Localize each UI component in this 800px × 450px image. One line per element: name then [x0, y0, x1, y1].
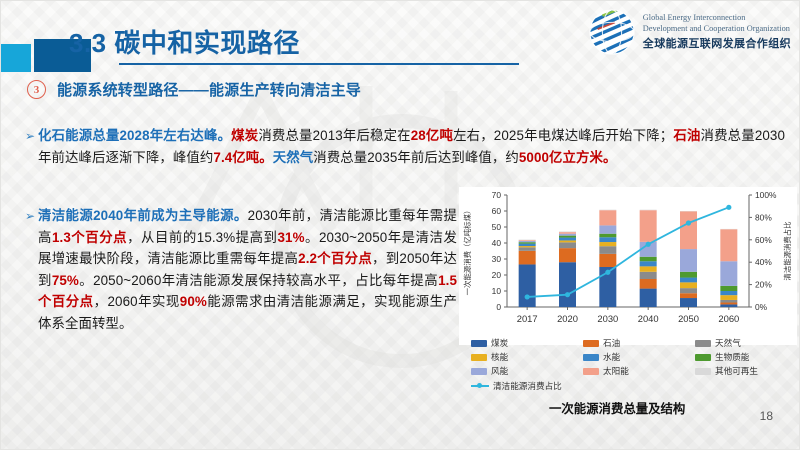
- legend-item: 生物质能: [695, 351, 791, 363]
- bar-segment: [599, 237, 616, 242]
- x-axis-tick: 2060: [718, 313, 739, 324]
- header-underline: [119, 63, 519, 65]
- line-data-point: [525, 294, 530, 299]
- legend-swatch: [583, 340, 599, 347]
- text-run: 天然气: [273, 150, 313, 165]
- text-run: 75%: [52, 273, 79, 288]
- bar-segment: [519, 244, 536, 246]
- bullet-text-1: 化石能源总量2028年左右达峰。煤炭消费总量2013年后稳定在28亿吨左右，20…: [38, 125, 785, 168]
- bar-segment: [680, 298, 697, 307]
- bar-segment: [559, 242, 576, 248]
- bullet-item-1: ➢ 化石能源总量2028年左右达峰。煤炭消费总量2013年后稳定在28亿吨左右，…: [25, 125, 785, 168]
- legend-swatch: [695, 354, 711, 361]
- line-data-point: [605, 270, 610, 275]
- y-axis-tick: 10: [492, 286, 502, 296]
- bar-segment: [640, 272, 657, 279]
- bar-segment: [559, 248, 576, 262]
- text-run: 煤炭: [231, 128, 258, 143]
- bar-segment: [640, 257, 657, 261]
- bar-segment: [720, 286, 737, 291]
- bar-segment: [599, 242, 616, 246]
- globe-icon: [588, 8, 636, 56]
- text-run: 清洁能源2040年前成为主导能源。: [38, 208, 248, 223]
- text-run: 7.4亿吨。: [213, 150, 272, 165]
- text-run: 。2050~2060年清洁能源发展保持较高水平，占比每年提高: [79, 273, 438, 288]
- logo-en-line1: Global Energy Interconnection: [643, 13, 791, 24]
- bar-segment: [680, 278, 697, 283]
- legend-item: 太阳能: [583, 365, 695, 377]
- bar-segment: [559, 231, 576, 232]
- bar-segment: [680, 293, 697, 298]
- bullet-text-2: 清洁能源2040年前成为主导能源。2030年前，清洁能源比重每年需提高1.3个百…: [38, 205, 457, 334]
- bullet-arrow-icon: ➢: [25, 125, 38, 146]
- y2-axis-tick: 20%: [755, 280, 772, 290]
- y2-axis-label: 清洁能源消费占比: [783, 221, 792, 280]
- x-axis-tick: 2040: [638, 313, 659, 324]
- bar-segment: [559, 236, 576, 238]
- text-run: 左右，2025年电煤达峰后开始下降；: [453, 128, 673, 143]
- y2-axis-tick: 60%: [755, 235, 772, 245]
- bar-segment: [640, 279, 657, 289]
- bar-segment: [640, 210, 657, 242]
- section-number-badge: 3: [27, 80, 46, 99]
- y-axis-tick: 60: [492, 206, 502, 216]
- page-number: 18: [760, 409, 773, 423]
- legend-item-line: 清洁能源消费占比: [471, 380, 791, 392]
- y-axis-tick: 30: [492, 254, 502, 264]
- text-run: ，2060年实现: [94, 294, 180, 309]
- legend-item: 天然气: [695, 337, 791, 349]
- text-run: 28亿吨: [411, 128, 453, 143]
- clean-energy-share-line: [527, 207, 729, 297]
- bar-segment: [519, 246, 536, 247]
- bar-segment: [559, 240, 576, 242]
- section-subheading: 3 能源系统转型路径——能源生产转向清洁主导: [27, 79, 361, 100]
- bar-segment: [519, 264, 536, 307]
- line-data-point: [726, 205, 731, 210]
- page-title: 3.3 碳中和实现路径: [69, 23, 300, 60]
- legend-item: 其他可再生: [695, 365, 791, 377]
- bar-segment: [720, 261, 737, 286]
- legend-label: 水能: [603, 351, 620, 363]
- legend-swatch: [471, 340, 487, 347]
- line-data-point: [646, 242, 651, 247]
- y2-axis-tick: 40%: [755, 257, 772, 267]
- x-axis-tick: 2050: [678, 313, 699, 324]
- x-axis-tick: 2030: [597, 313, 618, 324]
- slide-canvas: 3.3 碳中和实现路径: [0, 0, 800, 450]
- bar-segment: [519, 247, 536, 251]
- legend-label: 天然气: [715, 337, 741, 349]
- header-accent-square-cyan: [1, 44, 31, 72]
- chart-svg: 0102030405060700%20%40%60%80%100%一次能源消费（…: [459, 187, 797, 345]
- legend-item: 石油: [583, 337, 695, 349]
- section-subheading-label: 能源系统转型路径——能源生产转向清洁主导: [57, 79, 361, 100]
- bar-segment: [680, 249, 697, 272]
- bar-segment: [680, 211, 697, 249]
- y-axis-tick: 70: [492, 190, 502, 200]
- logo-cn-name: 全球能源互联网发展合作组织: [643, 35, 791, 51]
- bar-segment: [559, 234, 576, 236]
- y-axis-tick: 50: [492, 222, 502, 232]
- legend-line-marker: [471, 382, 489, 390]
- bar-segment: [640, 266, 657, 271]
- bar-segment: [599, 254, 616, 267]
- bar-segment: [519, 242, 536, 243]
- text-run: 消费总量2013年后稳定在: [258, 128, 410, 143]
- bullet-arrow-icon: ➢: [25, 205, 38, 226]
- legend-label: 风能: [491, 365, 508, 377]
- legend-label: 其他可再生: [715, 365, 758, 377]
- legend-label: 太阳能: [603, 365, 629, 377]
- bar-segment: [519, 241, 536, 242]
- bar-segment: [720, 304, 737, 307]
- legend-swatch: [695, 340, 711, 347]
- y-axis-tick: 20: [492, 270, 502, 280]
- legend-swatch: [471, 354, 487, 361]
- text-run: 化石能源总量2028年左右达峰。: [38, 128, 231, 143]
- y-axis-label: 一次能源消费（亿吨标煤）: [463, 207, 472, 296]
- chart-caption: 一次能源消费总量及结构: [549, 399, 685, 417]
- logo-en-line2: Development and Cooperation Organization: [643, 24, 791, 35]
- bar-segment: [720, 229, 737, 261]
- legend-swatch: [583, 354, 599, 361]
- primary-energy-chart: 0102030405060700%20%40%60%80%100%一次能源消费（…: [459, 187, 797, 345]
- bar-segment: [720, 295, 737, 300]
- text-run: 1.3个百分点: [52, 230, 127, 245]
- legend-label: 煤炭: [491, 337, 508, 349]
- bar-segment: [599, 234, 616, 238]
- bar-segment: [680, 272, 697, 278]
- text-run: 2.2个百分点: [298, 251, 372, 266]
- bar-segment: [559, 262, 576, 307]
- text-run: ，从目前的15.3%提高到: [127, 230, 277, 245]
- x-axis-tick: 2020: [557, 313, 578, 324]
- text-run: 石油: [673, 128, 700, 143]
- text-run: 31%: [278, 230, 305, 245]
- y2-axis-tick: 80%: [755, 212, 772, 222]
- text-run: 90%: [180, 294, 207, 309]
- organization-logo: Global Energy Interconnection Developmen…: [588, 8, 791, 56]
- legend-label: 核能: [491, 351, 508, 363]
- text-run: 5000亿立方米。: [519, 150, 617, 165]
- bullet-item-2: ➢ 清洁能源2040年前成为主导能源。2030年前，清洁能源比重每年需提高1.3…: [25, 205, 457, 334]
- bar-segment: [599, 225, 616, 233]
- text-run: 消费总量2035年前后达到峰值，约: [313, 150, 519, 165]
- logo-text-block: Global Energy Interconnection Developmen…: [643, 13, 791, 51]
- legend-item: 核能: [471, 351, 583, 363]
- bar-segment: [680, 282, 697, 288]
- y2-axis-tick: 0%: [755, 302, 768, 312]
- bar-segment: [720, 291, 737, 295]
- legend-label: 生物质能: [715, 351, 749, 363]
- legend-item: 水能: [583, 351, 695, 363]
- bar-segment: [559, 232, 576, 234]
- legend-item: 煤炭: [471, 337, 583, 349]
- bar-segment: [519, 240, 536, 241]
- legend-label: 石油: [603, 337, 620, 349]
- bar-segment: [720, 300, 737, 303]
- line-data-point: [686, 220, 691, 225]
- y-axis-tick: 40: [492, 238, 502, 248]
- line-data-point: [565, 292, 570, 297]
- x-axis-tick: 2017: [517, 313, 538, 324]
- bar-segment: [599, 210, 616, 225]
- bar-segment: [680, 288, 697, 293]
- legend-swatch: [583, 368, 599, 375]
- y2-axis-tick: 100%: [755, 190, 777, 200]
- y-axis-tick: 0: [496, 302, 501, 312]
- bar-segment: [599, 246, 616, 254]
- legend-label: 清洁能源消费占比: [493, 380, 562, 392]
- bar-segment: [640, 261, 657, 266]
- legend-swatch: [471, 368, 487, 375]
- bar-segment: [559, 238, 576, 241]
- legend-swatch: [695, 368, 711, 375]
- bar-segment: [720, 303, 737, 305]
- legend-item: 风能: [471, 365, 583, 377]
- chart-legend: 煤炭石油天然气核能水能生物质能风能太阳能其他可再生清洁能源消费占比: [471, 337, 791, 392]
- bar-segment: [640, 289, 657, 307]
- bar-segment: [519, 251, 536, 265]
